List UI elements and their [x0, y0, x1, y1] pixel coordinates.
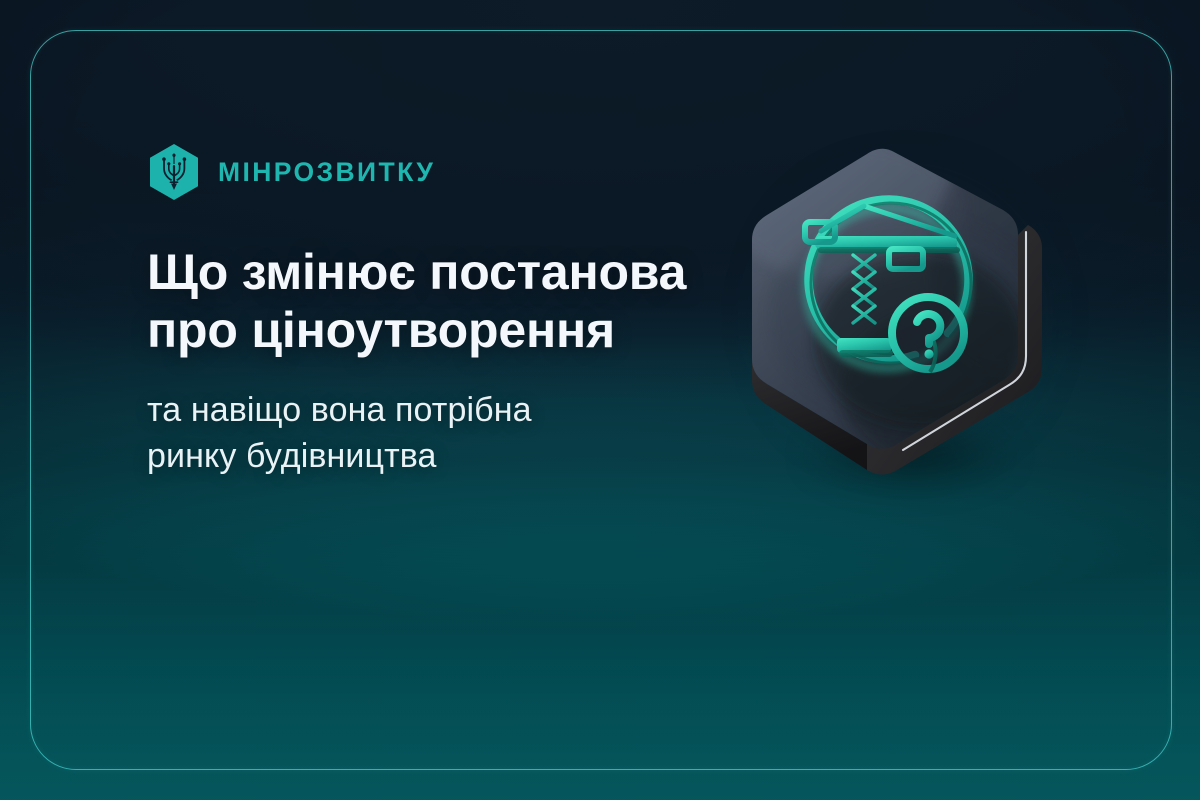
- brand-name: МІНРОЗВИТКУ: [218, 159, 435, 186]
- poster-canvas: МІНРОЗВИТКУ Що змінює постанова про ціно…: [0, 0, 1200, 800]
- page-title-line-2: про ціноутворення: [147, 301, 747, 359]
- hexagon-badge: [745, 140, 1055, 490]
- page-title: Що змінює постанова про ціноутворення: [147, 243, 747, 359]
- page-title-line-1: Що змінює постанова: [147, 243, 747, 301]
- page-subtitle-line-2: ринку будівництва: [147, 434, 707, 480]
- page-subtitle: та навіщо вона потрібна ринку будівництв…: [147, 388, 707, 479]
- ukrainian-trident-hexagon-icon: [148, 143, 200, 201]
- question-mark-circle-icon: [892, 297, 964, 372]
- brand-lockup: МІНРОЗВИТКУ: [148, 143, 435, 201]
- page-subtitle-line-1: та навіщо вона потрібна: [147, 388, 707, 434]
